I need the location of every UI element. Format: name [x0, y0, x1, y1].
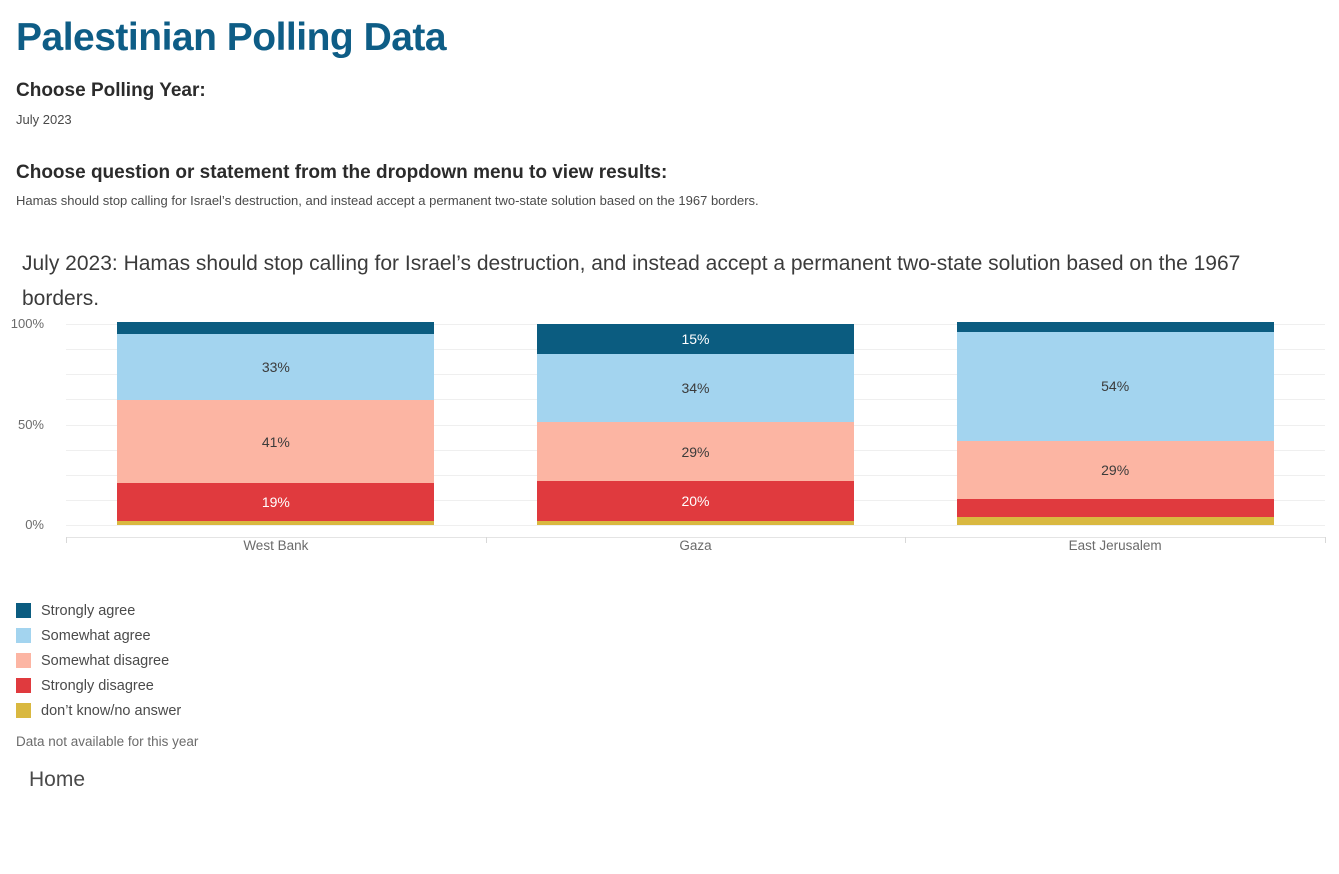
legend-swatch-icon: [16, 628, 31, 643]
bar-segment-label: 15%: [681, 331, 709, 347]
bar-segment[interactable]: 19%: [117, 483, 434, 521]
bar-segment[interactable]: 54%: [957, 332, 1274, 441]
bar-segment[interactable]: [117, 322, 434, 334]
bar-segment-label: 19%: [262, 494, 290, 510]
legend-item[interactable]: Strongly agree: [16, 598, 181, 623]
question-select-label: Choose question or statement from the dr…: [16, 162, 667, 184]
x-axis-tick-mark: [905, 537, 906, 543]
bar-segment-label: 20%: [681, 493, 709, 509]
bar-group: 54%29%East Jerusalem: [905, 324, 1325, 534]
legend-swatch-icon: [16, 653, 31, 668]
x-axis-tick-mark: [486, 537, 487, 543]
legend-item[interactable]: Strongly disagree: [16, 673, 181, 698]
chart-title: July 2023: Hamas should stop calling for…: [22, 246, 1282, 316]
legend-item[interactable]: Somewhat agree: [16, 623, 181, 648]
x-axis-tick-mark: [1325, 537, 1326, 543]
bar-segment[interactable]: 20%: [537, 481, 854, 521]
polling-year-value[interactable]: July 2023: [16, 112, 72, 127]
x-axis-tick-mark: [66, 537, 67, 543]
legend-item[interactable]: Somewhat disagree: [16, 648, 181, 673]
legend-swatch-icon: [16, 603, 31, 618]
bar-segment[interactable]: [957, 322, 1274, 332]
legend-item-label: Strongly agree: [41, 603, 135, 619]
chart-region: July 2023: Hamas should stop calling for…: [0, 236, 1339, 576]
legend-item[interactable]: don’t know/no answer: [16, 698, 181, 723]
bar-segment[interactable]: 29%: [957, 441, 1274, 499]
bar-segment[interactable]: 34%: [537, 354, 854, 422]
bar-segment[interactable]: 29%: [537, 422, 854, 480]
x-axis-category-label: West Bank: [66, 538, 486, 553]
x-axis-category-label: Gaza: [486, 538, 906, 553]
bar-segment[interactable]: 15%: [537, 324, 854, 354]
legend-item-label: Somewhat agree: [41, 628, 151, 644]
bar-segment-label: 54%: [1101, 378, 1129, 394]
polling-year-label: Choose Polling Year:: [16, 80, 206, 102]
legend-item-label: don’t know/no answer: [41, 703, 181, 719]
y-axis-tick-label: 50%: [0, 417, 44, 432]
home-link[interactable]: Home: [29, 768, 85, 792]
bar-segment[interactable]: [957, 517, 1274, 525]
bar-segment-label: 33%: [262, 359, 290, 375]
bar-group: 33%41%19%West Bank: [66, 324, 486, 534]
y-axis-tick-label: 0%: [0, 517, 44, 532]
bar-segment-label: 41%: [262, 434, 290, 450]
bar-segment[interactable]: 33%: [117, 334, 434, 400]
bar-group: 15%34%29%20%Gaza: [486, 324, 906, 534]
bar-segment[interactable]: [117, 521, 434, 525]
legend-item-label: Somewhat disagree: [41, 653, 169, 669]
bar-segment[interactable]: [957, 499, 1274, 517]
bar-segment[interactable]: [537, 521, 854, 525]
legend-swatch-icon: [16, 678, 31, 693]
bar-segment-label: 29%: [1101, 462, 1129, 478]
plot-area: 0%50%100%33%41%19%West Bank15%34%29%20%G…: [66, 324, 1325, 534]
data-availability-note: Data not available for this year: [16, 734, 198, 749]
page-title: Palestinian Polling Data: [16, 14, 446, 62]
chart-legend: Strongly agreeSomewhat agreeSomewhat dis…: [16, 598, 181, 723]
bar-segment-label: 29%: [681, 444, 709, 460]
bar-segment[interactable]: 41%: [117, 400, 434, 482]
question-select-value[interactable]: Hamas should stop calling for Israel’s d…: [16, 193, 759, 208]
y-axis-tick-label: 100%: [0, 316, 44, 331]
bar-segment-label: 34%: [681, 380, 709, 396]
legend-swatch-icon: [16, 703, 31, 718]
x-axis-category-label: East Jerusalem: [905, 538, 1325, 553]
legend-item-label: Strongly disagree: [41, 678, 154, 694]
